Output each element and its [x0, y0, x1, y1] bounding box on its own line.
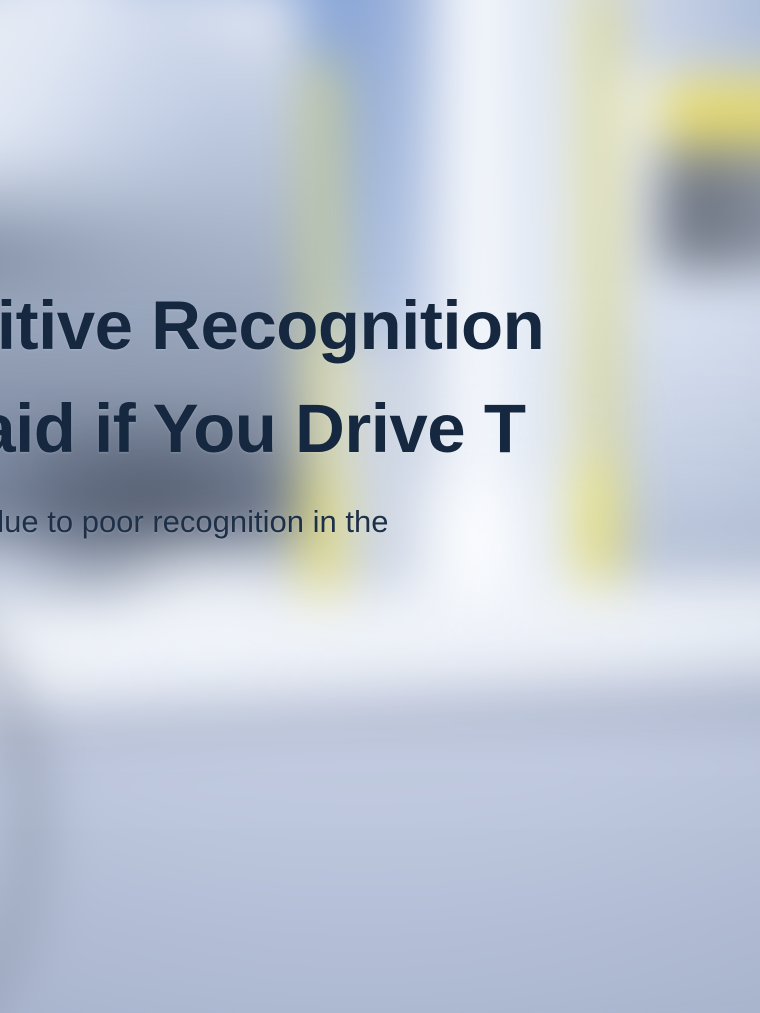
hero-text-overlay: Sensitive Recognition e afraid if You Dr… — [0, 0, 760, 1013]
hero-headline-line-2: e afraid if You Drive T — [0, 377, 760, 480]
hero-subtitle: ntrusion due to poor recognition in the — [0, 500, 760, 544]
hero-headline: Sensitive Recognition e afraid if You Dr… — [0, 274, 760, 480]
hero-banner: Sensitive Recognition e afraid if You Dr… — [0, 0, 760, 1013]
hero-headline-line-1: Sensitive Recognition — [0, 274, 760, 377]
